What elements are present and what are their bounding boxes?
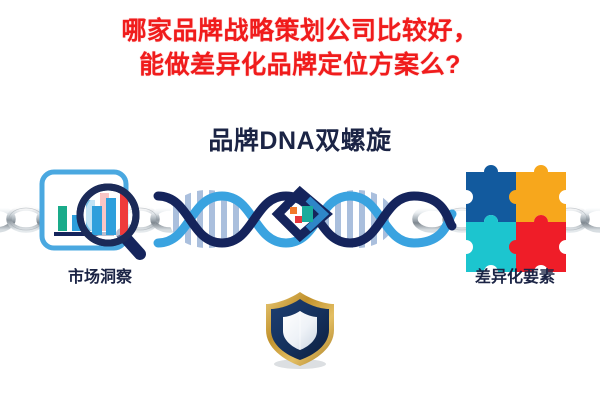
headline-line-2: 能做差异化品牌定位方案么? xyxy=(0,48,600,82)
infographic-canvas: 哪家品牌战略策划公司比较好， 能做差异化品牌定位方案么? 品牌DNA双螺旋 xyxy=(0,0,600,400)
headline-line-1: 哪家品牌战略策划公司比较好， xyxy=(0,14,600,48)
headline: 哪家品牌战略策划公司比较好， 能做差异化品牌定位方案么? xyxy=(0,14,600,82)
node-label-differentiation: 差异化要素 xyxy=(440,268,590,288)
node-label-market-insight: 市场洞察 xyxy=(28,268,172,288)
page-subtitle: 品牌DNA双螺旋 xyxy=(0,126,600,156)
